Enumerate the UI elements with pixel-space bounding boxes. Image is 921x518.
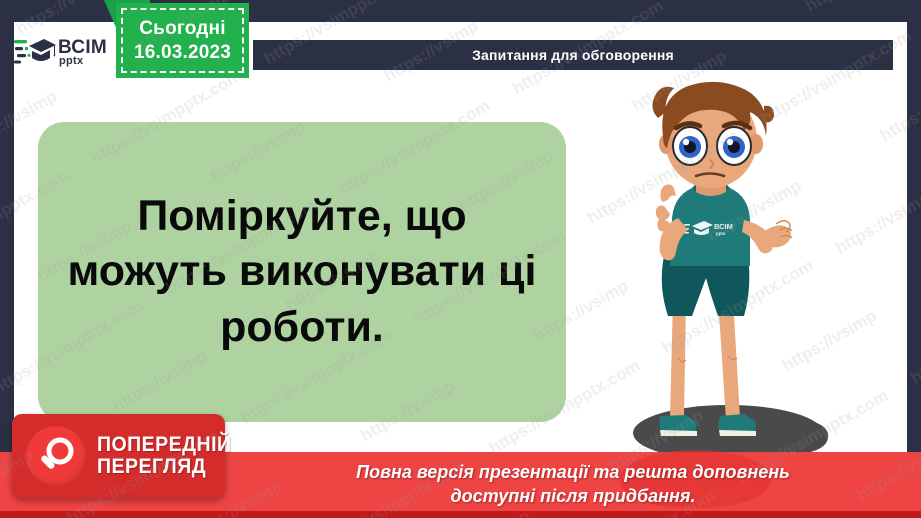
thinking-boy-illustration: ВСІМ pptx xyxy=(600,78,850,460)
purchase-notice-text: Повна версія презентації та решта доповн… xyxy=(253,461,893,509)
preview-badge-line-2: ПЕРЕГЛЯД xyxy=(97,456,231,478)
page-title: Запитання для обговорення xyxy=(472,47,674,63)
date-badge-label: Сьогодні xyxy=(139,17,225,41)
magnifier-icon xyxy=(26,426,86,486)
preview-badge: ПОПЕРЕДНІЙ ПЕРЕГЛЯД xyxy=(12,414,225,498)
preview-badge-text: ПОПЕРЕДНІЙ ПЕРЕГЛЯД xyxy=(97,434,242,477)
graduation-cap-icon xyxy=(14,35,56,69)
purchase-notice-line-1: Повна версія презентації та решта доповн… xyxy=(253,461,893,485)
presentation-slide: Сьогодні 16.03.2023 ВСІМ pptx Запитання … xyxy=(0,0,921,518)
preview-badge-line-1: ПОПЕРЕДНІЙ xyxy=(97,434,231,456)
brand-name: ВСІМ xyxy=(58,38,107,57)
question-text: Поміркуйте, що можуть виконувати ці робо… xyxy=(38,189,566,354)
question-card: Поміркуйте, що можуть виконувати ці робо… xyxy=(38,122,566,422)
brand-logo: ВСІМ pptx xyxy=(14,30,110,74)
svg-text:pptx: pptx xyxy=(716,231,726,236)
brand-logo-text: ВСІМ pptx xyxy=(58,38,107,67)
svg-text:ВСІМ: ВСІМ xyxy=(714,222,733,231)
date-badge: Сьогодні 16.03.2023 xyxy=(116,3,249,78)
banner-bottom-strip xyxy=(0,511,921,518)
slide-title-bar: Запитання для обговорення xyxy=(253,40,893,70)
date-badge-value: 16.03.2023 xyxy=(134,41,231,65)
purchase-notice-line-2: доступні після придбання. xyxy=(253,485,893,509)
